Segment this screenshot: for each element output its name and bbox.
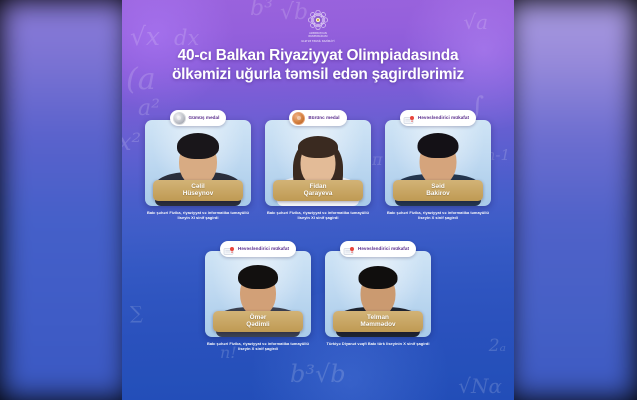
page-title-line1: 40-cı Balkan Riyaziyyat Olimpiadasında xyxy=(122,46,514,65)
diploma-scroll-icon xyxy=(403,113,415,124)
student-description: Bakı şəhəri Fizika, riyaziyyat və inform… xyxy=(386,210,490,220)
student-description: Bakı şəhəri Fizika, riyaziyyat və inform… xyxy=(146,210,250,220)
student-photo: Cəlil Hüseynov xyxy=(145,120,251,206)
student-row-1: Gümüş medal Cəlil Hüseynov Bakı şəhəri F… xyxy=(122,110,514,220)
badge-label: Həvəsləndirici mükafat xyxy=(358,246,409,252)
student-description: Türkiyə Diyanət vəqfi Bakı türk liseyini… xyxy=(326,341,430,346)
student-name-line2: Məmmədov xyxy=(335,321,421,329)
olympiad-poster: √x dx b³ √b (a a² x² √a m-1 ∫ 2ₐ √Nα b³√… xyxy=(122,0,514,400)
student-description: Bakı şəhəri Fizika, riyaziyyat və inform… xyxy=(206,341,310,351)
ministry-name-line1: AZƏRBAYCAN RESPUBLİKASI xyxy=(301,32,335,39)
ministry-emblem: AZƏRBAYCAN RESPUBLİKASI ELM VƏ TƏHSİL NA… xyxy=(301,9,335,43)
screenshot-root: √x dx b³ √b (a a² x² √a m-1 ∫ 2ₐ √Nα b³√… xyxy=(0,0,637,400)
student-name-line2: Bakirov xyxy=(395,190,481,198)
status-badge: Həvəsləndirici mükafat xyxy=(220,241,296,257)
status-badge: Gümüş medal xyxy=(170,110,227,126)
silver-medal-icon xyxy=(173,112,186,125)
student-photo: Fidan Qarayeva xyxy=(265,120,371,206)
student-card: Həvəsləndirici mükafat Ömər Qədimli Bakı… xyxy=(205,241,311,351)
letterbox-blur-left xyxy=(0,0,130,400)
student-card: Həvəsləndirici mükafat Səid Bakirov Bakı… xyxy=(385,110,491,220)
student-nameplate: Telman Məmmədov xyxy=(333,311,423,332)
student-photo: Səid Bakirov xyxy=(385,120,491,206)
status-badge: Həvəsləndirici mükafat xyxy=(340,241,416,257)
student-name-line2: Hüseynov xyxy=(155,190,241,198)
page-title-line2: ölkəmizi uğurla təmsil edən şagirdlərimi… xyxy=(122,65,514,84)
bg-formula-sqrt-a: √a xyxy=(463,10,488,34)
student-nameplate: Səid Bakirov xyxy=(393,180,483,201)
student-card: Həvəsləndirici mükafat Telman Məmmədov T… xyxy=(325,241,431,351)
student-description: Bakı şəhəri Fizika, riyaziyyat və inform… xyxy=(266,210,370,220)
badge-label: Gümüş medal xyxy=(189,115,220,121)
student-card: Gümüş medal Cəlil Hüseynov Bakı şəhəri F… xyxy=(145,110,251,220)
bg-formula-b-cubed: b³ xyxy=(250,0,273,21)
badge-label: Həvəsləndirici mükafat xyxy=(418,115,469,121)
student-nameplate: Ömər Qədimli xyxy=(213,311,303,332)
student-name-line2: Qarayeva xyxy=(275,190,361,198)
student-photo: Ömər Qədimli xyxy=(205,251,311,337)
student-name-line2: Qədimli xyxy=(215,321,301,329)
student-card: Bürünc medal Fidan Qarayeva Bakı şəhəri … xyxy=(265,110,371,220)
bg-formula-b3-sqrt-b-bottom: b³√b xyxy=(290,360,346,388)
bg-formula-sqrt-n-alpha: √Nα xyxy=(458,374,502,398)
badge-label: Həvəsləndirici mükafat xyxy=(238,246,289,252)
diploma-scroll-icon xyxy=(343,244,355,255)
status-badge: Bürünc medal xyxy=(289,110,346,126)
diploma-scroll-icon xyxy=(223,244,235,255)
student-photo: Telman Məmmədov xyxy=(325,251,431,337)
badge-label: Bürünc medal xyxy=(308,115,339,121)
ministry-name-line2: ELM VƏ TƏHSİL NAZİRLİYİ xyxy=(301,40,335,43)
student-row-2: Həvəsləndirici mükafat Ömər Qədimli Bakı… xyxy=(122,241,514,351)
letterbox-blur-right xyxy=(507,0,637,400)
azerbaijan-education-ministry-rosette-icon xyxy=(307,9,329,31)
student-nameplate: Fidan Qarayeva xyxy=(273,180,363,201)
status-badge: Həvəsləndirici mükafat xyxy=(400,110,476,126)
student-nameplate: Cəlil Hüseynov xyxy=(153,180,243,201)
bronze-medal-icon xyxy=(292,112,305,125)
page-title: 40-cı Balkan Riyaziyyat Olimpiadasında ö… xyxy=(122,46,514,84)
